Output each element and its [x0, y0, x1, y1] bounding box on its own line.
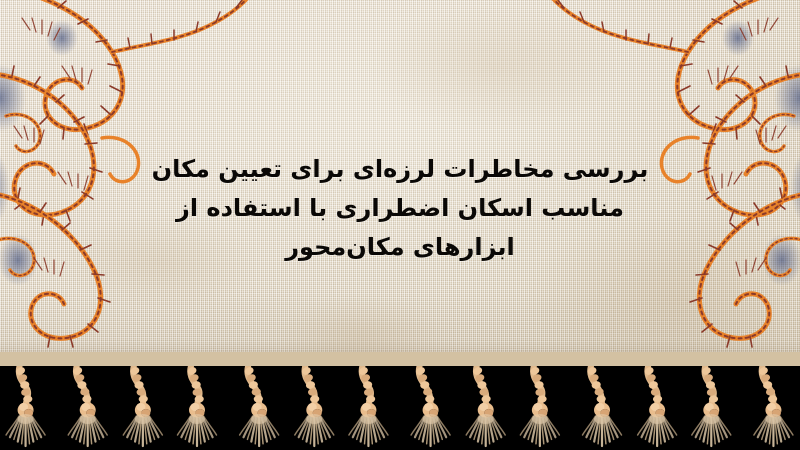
- tassel-group: [0, 366, 800, 450]
- slide-canvas: بررسی مخاطرات لرزه‌ای برای تعیین مکان من…: [0, 0, 800, 450]
- title-line-1: بررسی مخاطرات لرزه‌ای برای تعیین مکان: [150, 150, 650, 189]
- tassel-fringe: [0, 366, 800, 450]
- title-line-2: مناسب اسکان اضطراری با استفاده از: [150, 189, 650, 228]
- title-line-3: ابزارهای مکان‌محور: [150, 228, 650, 267]
- slide-title: بررسی مخاطرات لرزه‌ای برای تعیین مکان من…: [150, 150, 650, 267]
